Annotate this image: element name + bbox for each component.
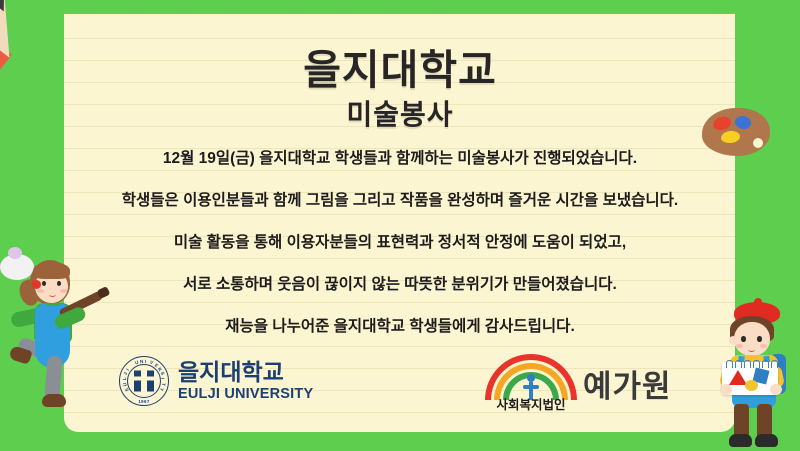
girl-shoe-front [42,394,66,407]
boy-eye-right [757,336,762,342]
boy-beret-nub [754,298,762,306]
girl-cloud-accent [8,247,22,259]
eulji-university-logo: EULJI UNIVERSITY 1967 을지대학교 EULJI UNIVER… [119,356,313,406]
yegawon-logo: 사회복지법인 예가원 [489,356,672,410]
body-copy: 12월 19일(금) 을지대학교 학생들과 함께하는 미술봉사가 진행되었습니다… [80,148,720,358]
girl-eye-right [57,281,61,286]
page-title: 을지대학교 [0,36,800,96]
seal-emblem-icon [134,371,154,392]
spiral-notch [490,0,520,14]
girl-character-illustration [2,248,106,408]
girl-blush-right [60,289,67,293]
body-line: 서로 소통하며 웃음이 끊이지 않는 따뜻한 분위기가 만들어졌습니다. [80,274,720,296]
spiral-notch [542,0,572,14]
girl-mouth [49,292,56,297]
person-arms [523,385,539,389]
yegawon-corporation-label: 사회복지법인 [496,394,565,413]
sketchbook-ring [771,360,778,368]
girl-hair-bangs [33,262,70,279]
spiral-notch [229,0,259,14]
drawing-shape-circle [745,380,758,391]
spiral-notch [333,0,363,14]
boy-shoe-left [729,434,752,447]
girl-hair-tie [32,280,41,289]
sketchbook-ring [726,360,733,368]
boy-eye-left [741,336,746,342]
body-line: 미술 활동을 통해 이용자분들의 표현력과 정서적 안정에 도움이 되었고, [80,232,720,254]
spiral-notch [72,0,102,14]
body-line: 재능을 나누어준 을지대학교 학생들에게 감사드립니다. [80,316,720,338]
spiral-notch [124,0,154,14]
spiral-notch [594,0,624,14]
girl-blush-left [37,289,44,293]
boy-shoe-right [755,434,778,447]
body-line: 12월 19일(금) 을지대학교 학생들과 함께하는 미술봉사가 진행되었습니다… [80,148,720,170]
girl-eye-left [42,281,46,286]
spiral-notch [281,0,311,14]
eulji-seal-icon: EULJI UNIVERSITY 1967 [119,356,169,406]
eulji-name-en: EULJI UNIVERSITY [178,387,313,402]
sketchbook-ring [762,360,769,368]
boy-mouth [748,347,755,352]
boy-blush-right [760,344,767,348]
rainbow-icon: 사회복지법인 [489,356,573,410]
person-head [527,374,535,382]
body-line: 학생들은 이용인분들과 함께 그림을 그리고 작품을 완성하며 즐거운 시간을 … [80,190,720,212]
spiral-notch [437,0,467,14]
eulji-name-ko: 을지대학교 [178,361,313,384]
page-subtitle: 미술봉사 [0,93,800,133]
sketchbook-ring [735,360,742,368]
paint-palette-icon [702,108,770,156]
boy-blush-left [736,344,743,348]
boy-hand-right [770,384,782,395]
seal-year-label: 1967 [120,399,168,404]
drawing-shape-triangle [729,370,747,385]
spiral-notch [176,0,206,14]
palette-thumb-hole [753,138,763,148]
yegawon-name: 예가원 [583,361,672,406]
footer-logos: EULJI UNIVERSITY 1967 을지대학교 EULJI UNIVER… [64,352,735,414]
spiral-notch [646,0,676,14]
boy-hand-left [720,384,732,395]
boy-sketchbook-rings [726,360,774,366]
spiral-notch [385,0,415,14]
boy-character-illustration [712,300,800,451]
poster-canvas: 을지대학교 미술봉사 12월 19일(금) 을지대학교 학생들과 함께하는 미술… [0,0,800,451]
spiral-notch [698,0,728,14]
sketchbook-ring [744,360,751,368]
eulji-wordmark: 을지대학교 EULJI UNIVERSITY [178,361,313,402]
